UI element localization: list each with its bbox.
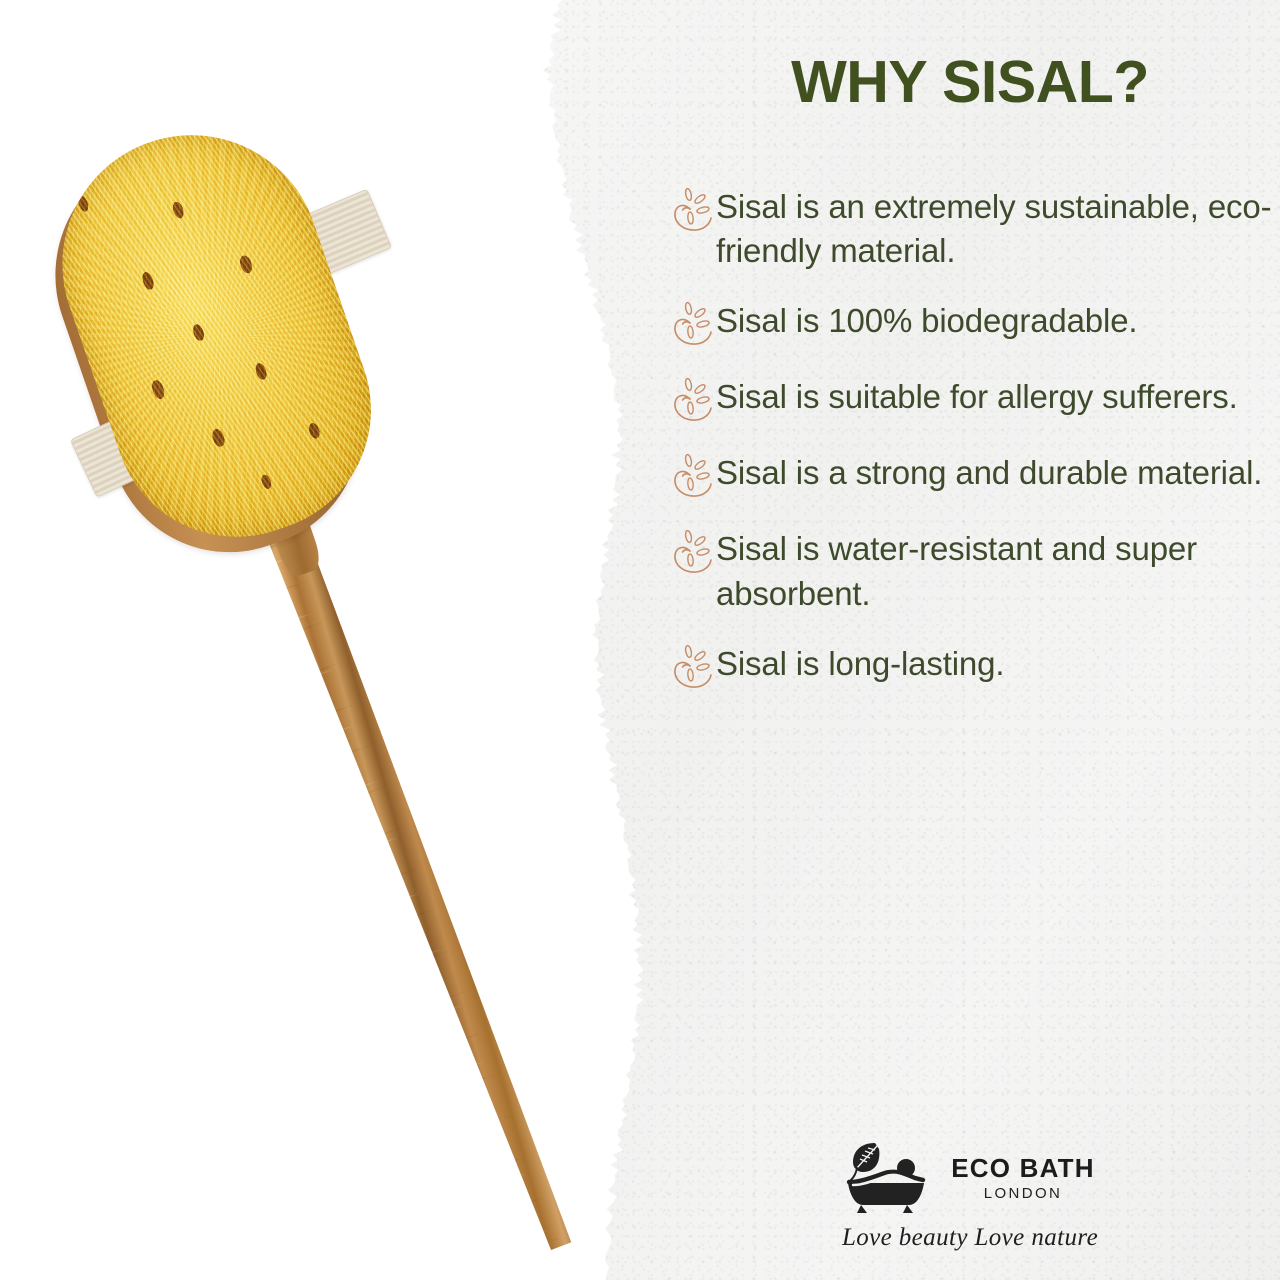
brush-handle	[252, 492, 582, 1255]
brush-bristle-texture	[27, 100, 404, 570]
list-item: Sisal is long-lasting.	[670, 642, 1280, 692]
list-item-label: Sisal is suitable for allergy sufferers.	[716, 375, 1280, 419]
leaf-sprig-icon	[670, 377, 714, 425]
poster-canvas: WHY SISAL?	[0, 0, 1280, 1280]
list-item-label: Sisal is 100% biodegradable.	[716, 299, 1280, 343]
list-item: Sisal is 100% biodegradable.	[670, 299, 1280, 349]
brand-name: ECO BATH	[951, 1155, 1094, 1181]
bathtub-leaf-logo-icon	[845, 1141, 937, 1215]
page-title: WHY SISAL?	[660, 48, 1280, 116]
brand-tagline: Love beauty Love nature	[842, 1224, 1098, 1252]
content-column: WHY SISAL?	[660, 0, 1280, 1280]
list-item: Sisal is suitable for allergy sufferers.	[670, 375, 1280, 425]
leaf-sprig-icon	[670, 301, 714, 349]
list-item-label: Sisal is long-lasting.	[716, 642, 1280, 686]
dry-body-brush-image	[0, 0, 660, 1280]
list-item: Sisal is water-resistant and super absor…	[670, 527, 1280, 615]
list-item-label: Sisal is a strong and durable material.	[716, 451, 1280, 495]
leaf-sprig-icon	[670, 529, 714, 577]
logo-row: ECO BATH LONDON	[845, 1141, 1094, 1215]
list-item: Sisal is a strong and durable material.	[670, 451, 1280, 501]
brush-head	[1, 86, 453, 600]
logo-wordmark: ECO BATH LONDON	[951, 1155, 1094, 1201]
leaf-sprig-icon	[670, 644, 714, 692]
leaf-sprig-icon	[670, 453, 714, 501]
brand-logo: ECO BATH LONDON Love beauty Love nature	[660, 1141, 1280, 1252]
list-item: Sisal is an extremely sustainable, eco-f…	[670, 185, 1280, 273]
brand-city: LONDON	[984, 1186, 1063, 1201]
leaf-sprig-icon	[670, 187, 714, 235]
list-item-label: Sisal is an extremely sustainable, eco-f…	[716, 185, 1280, 273]
list-item-label: Sisal is water-resistant and super absor…	[716, 527, 1280, 615]
benefits-list: Sisal is an extremely sustainable, eco-f…	[670, 185, 1280, 718]
